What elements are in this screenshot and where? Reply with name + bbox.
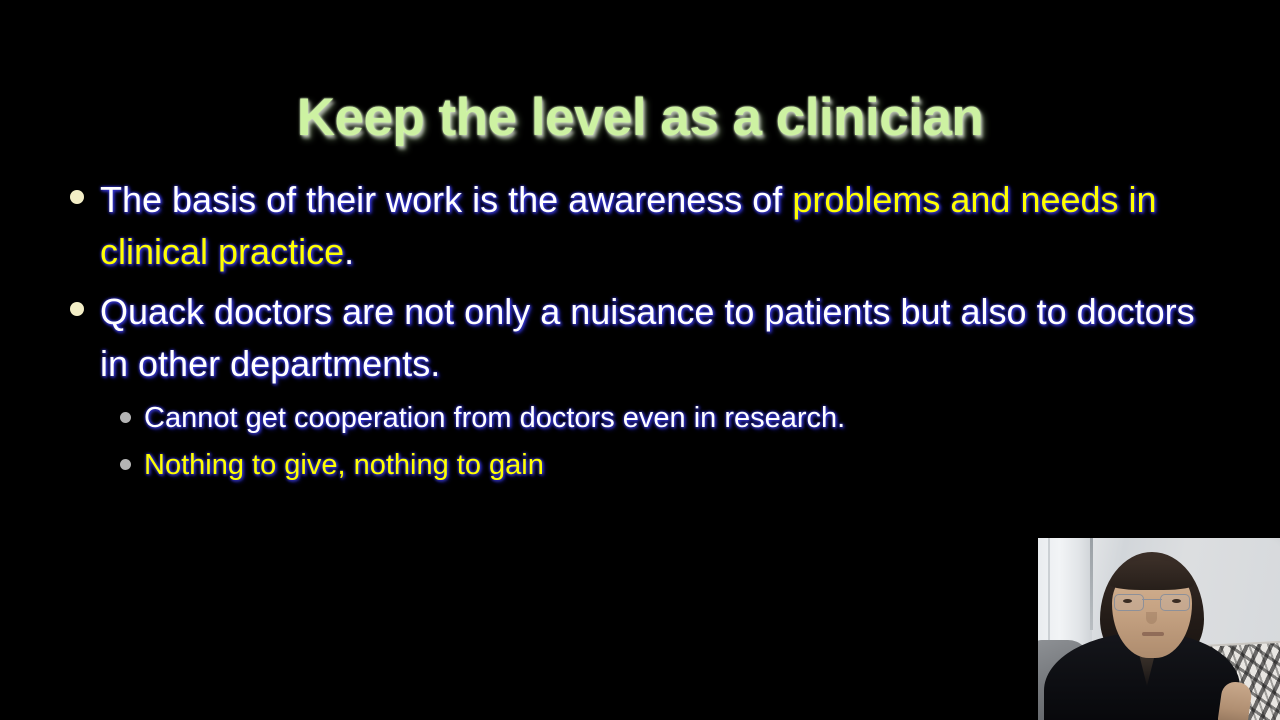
- curtain-fold: [1048, 538, 1050, 656]
- sub-bullet-item-2: Nothing to give, nothing to gain: [120, 445, 1230, 486]
- sub-bullet-item-2-text: Nothing to give, nothing to gain: [144, 445, 544, 486]
- presentation-slide: Keep the level as a clinician The basis …: [0, 0, 1280, 720]
- slide-title: Keep the level as a clinician: [0, 90, 1280, 146]
- sub-bullet-item-1-text: Cannot get cooperation from doctors even…: [144, 398, 845, 439]
- bullet-marker-icon: [70, 190, 84, 204]
- bullet-item-1-text: The basis of their work is the awareness…: [100, 174, 1230, 278]
- presenter-eye-right: [1172, 599, 1181, 603]
- bullet-item-1: The basis of their work is the awareness…: [70, 174, 1230, 278]
- background-curtain: [1038, 538, 1092, 656]
- webcam-video-frame: [1038, 538, 1280, 720]
- bullet-marker-icon: [70, 302, 84, 316]
- presenter-mouth: [1142, 632, 1164, 636]
- sub-bullet-marker-icon: [120, 459, 131, 470]
- sub-bullet-marker-icon: [120, 412, 131, 423]
- slide-body-bullet-list: The basis of their work is the awareness…: [70, 174, 1230, 492]
- presenter-webcam-overlay[interactable]: [1038, 538, 1280, 720]
- wall-seam: [1090, 538, 1093, 630]
- bullet-item-1-text-part-c: .: [344, 231, 354, 272]
- bullet-item-2: Quack doctors are not only a nuisance to…: [70, 286, 1230, 390]
- bullet-item-1-text-part-a: The basis of their work is the awareness…: [100, 179, 792, 220]
- presenter-eye-left: [1123, 599, 1132, 603]
- presenter-nose: [1146, 612, 1157, 624]
- presenter-glasses-icon: [1114, 594, 1190, 609]
- sub-bullet-item-1: Cannot get cooperation from doctors even…: [120, 398, 1230, 439]
- glasses-bridge: [1142, 599, 1162, 600]
- bullet-item-2-text: Quack doctors are not only a nuisance to…: [100, 286, 1230, 390]
